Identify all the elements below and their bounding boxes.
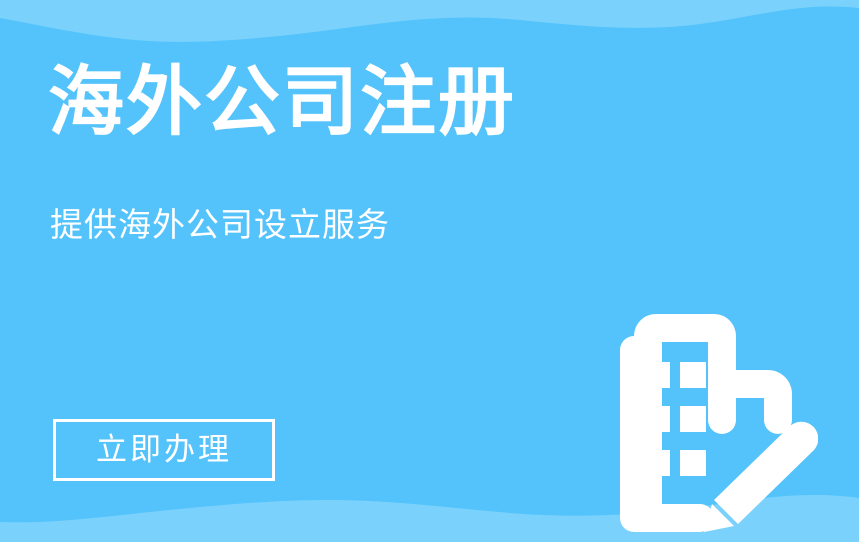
page-subtitle: 提供海外公司设立服务 (50, 205, 390, 245)
building-with-pencil-icon (604, 300, 818, 532)
apply-now-button[interactable]: 立即办理 (53, 419, 275, 481)
overseas-company-registration-banner: 海外公司注册 提供海外公司设立服务 立即办理 (0, 0, 859, 542)
page-title: 海外公司注册 (48, 62, 516, 144)
banner-content: 海外公司注册 提供海外公司设立服务 立即办理 (0, 0, 859, 542)
